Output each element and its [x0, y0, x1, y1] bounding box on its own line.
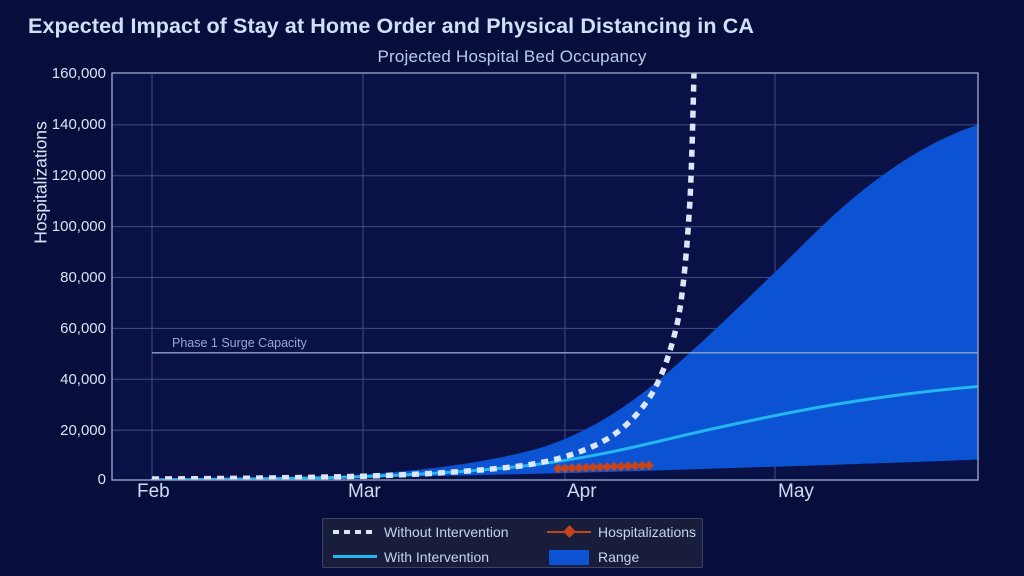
x-tick-label-apr: Apr: [567, 481, 597, 503]
legend-item-range[interactable]: Range: [547, 549, 714, 565]
legend-item-hospitalizations[interactable]: Hospitalizations: [547, 524, 714, 540]
surge-capacity-annotation: Phase 1 Surge Capacity: [172, 336, 307, 350]
marker-line-swatch-icon: [547, 525, 591, 539]
legend-label: Range: [598, 549, 639, 565]
x-tick-label-mar: Mar: [348, 481, 381, 503]
legend-label: Hospitalizations: [598, 524, 696, 540]
x-tick-label-feb: Feb: [137, 481, 170, 503]
legend-item-with-intervention[interactable]: With Intervention: [333, 549, 547, 565]
chart-legend[interactable]: Without Intervention Hospitalizations Wi…: [322, 518, 703, 568]
dashed-line-swatch-icon: [333, 525, 377, 539]
solid-line-swatch-icon: [333, 550, 377, 564]
slide-canvas: Expected Impact of Stay at Home Order an…: [0, 0, 1024, 576]
legend-label: With Intervention: [384, 549, 489, 565]
legend-label: Without Intervention: [384, 524, 509, 540]
legend-item-without-intervention[interactable]: Without Intervention: [333, 524, 547, 540]
filled-box-swatch-icon: [547, 550, 591, 564]
x-tick-label-may: May: [778, 481, 814, 503]
